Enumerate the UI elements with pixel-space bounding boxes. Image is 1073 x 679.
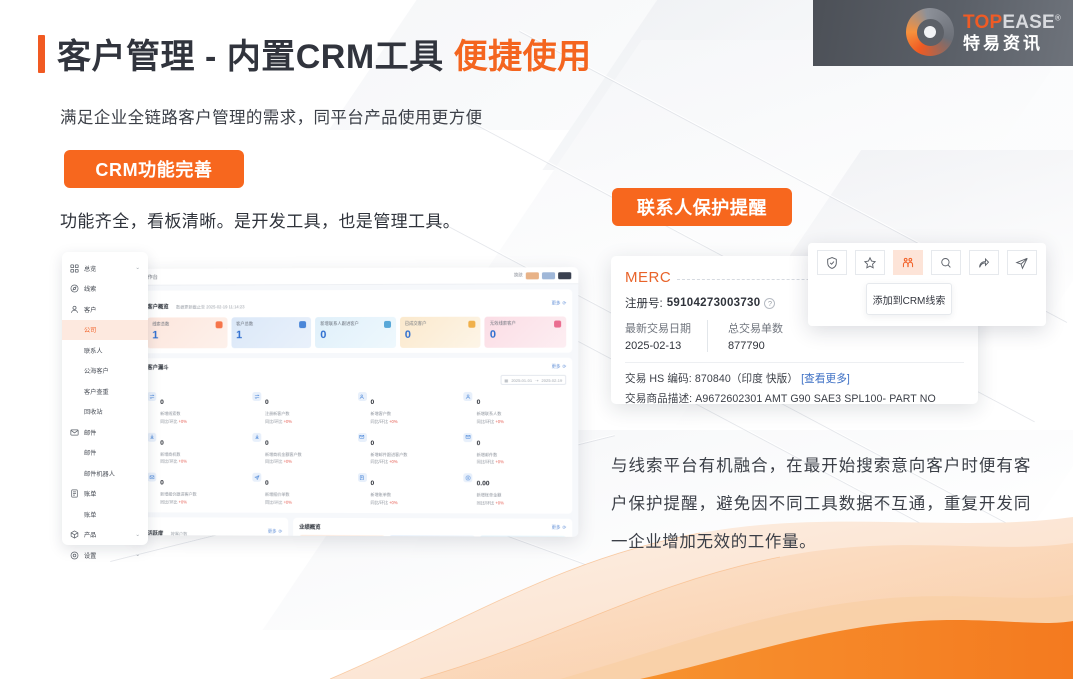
latest-trade-date: 最新交易日期 2025-02-13 (625, 320, 707, 352)
funnel-title: 客户漏斗 (147, 363, 168, 371)
people-icon-button[interactable] (893, 250, 923, 275)
theme-swatch-blue[interactable] (542, 272, 555, 279)
metric-grid: 0新增线索数同比/环比 +0% 0注册新客户数同比/环比 +0% 0新增客户数同… (147, 389, 566, 508)
stat-row: 线索总数 1 客户总数 1 新增联系人跟进客户 0 (147, 316, 566, 348)
more-label: 更多 (552, 300, 561, 306)
metric-label: 新增账单数 (371, 492, 398, 498)
metric-value: 0 (371, 480, 375, 487)
send-icon (252, 473, 261, 482)
help-icon[interactable]: ? (764, 298, 775, 309)
stat-badge-icon (299, 321, 306, 328)
metric-label: 新增联系人数 (477, 411, 504, 417)
hs-value: 870840（印度 快版） (695, 373, 798, 385)
money-icon (464, 473, 473, 482)
metric-value: 0 (265, 480, 269, 487)
refresh-icon[interactable]: ⟳ (279, 528, 283, 534)
performance-mini-card: 已成交客户数 0 (479, 535, 566, 537)
dashboard-sidebar: 总览 ⌄ 线索 客户 公司 联系人 公海客户 客户查重 回收站 邮件 (62, 252, 148, 545)
badge-crm-complete: CRM功能完善 (64, 150, 244, 188)
sidebar-item-customers[interactable]: 客户 (62, 299, 148, 320)
people-icon (901, 256, 915, 270)
total-orders-label: 总交易单数 (728, 320, 783, 336)
funnel-card: 客户漏斗 更多 ⟳ ▦ 2025-01-01 ⇢ 2025-02-19 0新 (141, 358, 572, 513)
metric-value: 0.00 (477, 480, 490, 487)
view-more-link[interactable]: [查看更多] (801, 373, 850, 385)
dashboard-panel: 工作台 换肤 客户概览 数据更新截止至 2025-02-19 11:14:23 (135, 267, 578, 537)
transfer-icon (252, 392, 261, 401)
metric-value: 0 (265, 439, 269, 446)
compass-icon (70, 284, 79, 293)
stat-badge-icon (554, 321, 561, 328)
sidebar-label: 公海客户 (84, 366, 109, 375)
metric-label: 新增商机数 (160, 451, 187, 457)
brand-logo[interactable]: TOPEASE® 特易资讯 (906, 8, 1061, 56)
total-orders-value: 877790 (728, 340, 783, 352)
performance-more-link[interactable]: 更多 ⟳ (552, 524, 567, 530)
date-separator: ⇢ (535, 377, 538, 382)
more-label: 更多 (268, 528, 277, 534)
theme-swatch-dark[interactable] (558, 272, 571, 279)
star-icon (863, 256, 877, 270)
page-title-highlight: 便捷使用 (454, 38, 592, 76)
stat-value: 0 (320, 330, 391, 341)
metric-compare: 同比/环比 +0% (160, 499, 196, 505)
sidebar-item-bills-sub[interactable]: 账单 (62, 504, 148, 525)
down-icon (147, 432, 156, 441)
date-to: 2025-02-19 (541, 377, 562, 382)
grid-icon (70, 264, 79, 273)
refresh-icon[interactable]: ⟳ (562, 300, 566, 306)
stat-card-invalid-leads: 无效线索客户 0 (485, 316, 566, 347)
metric-label: 新增邮件跟进客户数 (371, 452, 408, 458)
overview-subtitle: 数据更新截止至 2025-02-19 11:14:23 (176, 304, 244, 309)
logo-registered-mark: ® (1055, 13, 1061, 22)
transfer-icon (147, 392, 156, 401)
metric-item: 0新增邮件跟进客户数同比/环比 +0% (357, 430, 459, 468)
logo-ease-text: EASE (1002, 12, 1055, 33)
sidebar-item-mail-sub[interactable]: 邮件 (62, 443, 148, 464)
metric-label: 新增报价单数 (265, 492, 292, 498)
page-title: 客户管理 - 内置CRM工具 便捷使用 (38, 29, 592, 78)
metric-value: 0 (477, 399, 481, 406)
sidebar-item-contacts[interactable]: 联系人 (62, 340, 148, 361)
goods-desc-row: 交易商品描述: A9672602301 AMT G90 SAE3 SPL100-… (625, 391, 964, 406)
dashboard-topbar: 工作台 换肤 (135, 267, 578, 286)
desc-label: 交易商品描述: (625, 393, 692, 405)
overview-more-link[interactable]: 更多 ⟳ (552, 300, 567, 306)
shield-check-icon-button[interactable] (817, 250, 847, 275)
sidebar-label: 账单 (84, 510, 96, 519)
stat-card-leads: 线索总数 1 (147, 317, 227, 348)
metric-label: 新增报价跟进客户数 (160, 491, 196, 497)
doc-icon (357, 473, 366, 482)
title-accent-bar (38, 35, 45, 73)
metric-item: 0新增客户数同比/环比 +0% (357, 389, 459, 427)
overview-title: 客户概览 (147, 305, 168, 311)
sidebar-label: 回收站 (84, 407, 103, 416)
sidebar-label: 邮件 (84, 448, 96, 457)
sidebar-item-settings[interactable]: 设置 ⌄ (62, 545, 148, 566)
logo-wordmark: TOPEASE® (963, 13, 1061, 32)
metric-value: 0 (477, 440, 481, 447)
refresh-icon[interactable]: ⟳ (562, 524, 566, 530)
funnel-more-link[interactable]: 更多 ⟳ (552, 364, 567, 370)
metric-item: 0新增报价跟进客户数同比/环比 +0% (147, 470, 248, 508)
chevron-down-icon: ⌄ (135, 532, 140, 538)
sidebar-item-overview[interactable]: 总览 ⌄ (62, 258, 148, 279)
mail-icon (464, 433, 473, 442)
metric-compare: 同比/环比 +0% (477, 459, 504, 465)
sidebar-item-company[interactable]: 公司 (62, 320, 148, 341)
metric-compare: 同比/环比 +0% (477, 500, 504, 506)
metric-label: 新增账单金额 (477, 492, 504, 498)
sidebar-item-dedupe[interactable]: 客户查重 (62, 381, 148, 402)
metric-item: 0新增商机金额客户数同比/环比 +0% (252, 429, 353, 467)
stat-badge-icon (469, 321, 476, 328)
search-icon-button[interactable] (931, 250, 961, 275)
metric-value: 0 (160, 480, 164, 487)
down-icon (252, 432, 261, 441)
stat-label: 已成交客户 (405, 321, 476, 327)
sidebar-item-mail-robot[interactable]: 邮件机器人 (62, 463, 148, 484)
hs-label: 交易 HS 编码: (625, 373, 692, 385)
share-icon-button[interactable] (969, 250, 999, 275)
metric-compare: 同比/环比 +0% (160, 459, 187, 465)
metric-value: 0 (371, 399, 375, 406)
metric-item: 0.00新增账单金额同比/环比 +0% (464, 470, 567, 508)
sidebar-label: 客户查重 (84, 387, 109, 396)
mail-icon (70, 428, 79, 437)
date-range-picker[interactable]: ▦ 2025-01-01 ⇢ 2025-02-19 (500, 375, 566, 385)
shield-check-icon (825, 256, 839, 270)
star-icon-button[interactable] (855, 250, 885, 275)
theme-swatch-orange[interactable] (526, 272, 539, 279)
stat-value: 1 (152, 330, 222, 341)
metric-compare: 同比/环比 +0% (477, 419, 504, 425)
metric-value: 0 (371, 440, 375, 447)
metric-compare: 同比/环比 +0% (265, 499, 292, 505)
box-icon (70, 530, 79, 539)
metric-compare: 同比/环比 +0% (265, 418, 292, 424)
metric-item: 0新增报价单数同比/环比 +0% (252, 470, 353, 508)
sidebar-item-leads[interactable]: 线索 (62, 279, 148, 300)
metric-value: 0 (160, 439, 164, 446)
stat-badge-icon (384, 321, 391, 328)
stat-card-closed-customers: 已成交客户 0 (400, 317, 481, 348)
performance-card: 业绩概览 更多 ⟳ 累计成交额 $0 累计订单数 0 (293, 517, 572, 537)
date-from: 2025-01-01 (511, 377, 532, 382)
metric-label: 新增商机金额客户数 (265, 451, 302, 457)
activity-more-link[interactable]: 更多 ⟳ (268, 528, 282, 534)
metric-compare: 同比/环比 +0% (371, 459, 408, 465)
desc-value: A9672602301 AMT G90 SAE3 SPL100- PART NO (695, 393, 936, 405)
reg-label: 注册号: (625, 295, 663, 311)
more-label: 更多 (552, 364, 561, 370)
sidebar-label: 客户 (84, 305, 96, 314)
performance-title: 业绩概览 (299, 522, 321, 530)
logo-chinese-text: 特易资讯 (963, 35, 1061, 52)
metric-item: 0新增商机数同比/环比 +0% (147, 429, 248, 466)
stat-card-new-contact-followed: 新增联系人跟进客户 0 (315, 317, 396, 348)
mail-icon (147, 473, 156, 482)
gear-icon (70, 551, 79, 560)
metric-label: 新增邮件数 (477, 452, 504, 458)
overview-card: 客户概览 数据更新截止至 2025-02-19 11:14:23 更多 ⟳ 线索… (141, 289, 572, 353)
stat-badge-icon (215, 321, 222, 328)
chevron-down-icon: ⌄ (135, 552, 140, 558)
more-label: 更多 (552, 524, 561, 530)
action-toolbar-popup: 添加到CRM线索 (808, 243, 1046, 326)
metric-compare: 同比/环比 +0% (160, 418, 187, 424)
latest-date-value: 2025-02-13 (625, 340, 691, 352)
activity-title: 活跃度 (147, 531, 163, 537)
page-title-main: 客户管理 - 内置CRM工具 (57, 38, 454, 76)
stat-value: 0 (405, 330, 476, 341)
hs-code-row: 交易 HS 编码: 870840（印度 快版） [查看更多] (625, 371, 964, 386)
sidebar-item-mail[interactable]: 邮件 (62, 422, 148, 443)
stat-label: 无效线索客户 (490, 321, 561, 327)
mail-icon (357, 433, 366, 442)
sidebar-label: 设置 (84, 551, 96, 560)
sidebar-label: 产品 (84, 530, 96, 539)
send-icon-button[interactable] (1007, 250, 1037, 275)
calendar-icon: ▦ (505, 377, 509, 382)
sidebar-label: 总览 (84, 264, 96, 273)
topease-mark-icon (906, 8, 954, 56)
metric-item: 0新增邮件数同比/环比 +0% (464, 430, 567, 468)
lead-text: 功能齐全，看板清晰。是开发工具，也是管理工具。 (60, 207, 460, 232)
sidebar-item-products[interactable]: 产品 ⌄ (62, 525, 148, 546)
activity-subtitle: 按客户数 (171, 531, 188, 536)
user-icon (357, 392, 366, 401)
metric-compare: 同比/环比 +0% (371, 500, 398, 506)
metric-item: 0新增线索数同比/环比 +0% (147, 389, 248, 426)
sidebar-label: 账单 (84, 489, 96, 498)
sidebar-item-recycle-bin[interactable]: 回收站 (62, 402, 148, 423)
metric-label: 新增客户数 (371, 411, 398, 417)
sidebar-label: 线索 (84, 284, 96, 293)
reg-value: 59104273003730 (667, 297, 761, 309)
sidebar-label: 邮件 (84, 428, 96, 437)
send-icon (1015, 256, 1029, 270)
badge-contact-protection: 联系人保护提醒 (612, 188, 792, 226)
sidebar-label: 联系人 (84, 346, 103, 355)
page-subtitle: 满足企业全链路客户管理的需求，同平台产品使用更方便 (60, 104, 483, 128)
stat-card-customers: 客户总数 1 (231, 317, 311, 348)
metric-item: 0注册新客户数同比/环比 +0% (252, 389, 353, 426)
search-icon (939, 256, 953, 270)
tooltip-add-to-crm: 添加到CRM线索 (866, 283, 952, 315)
total-orders: 总交易单数 877790 (707, 320, 799, 352)
refresh-icon[interactable]: ⟳ (562, 364, 566, 370)
stat-label: 线索总数 (152, 321, 222, 327)
user-icon (464, 392, 473, 401)
stat-label: 新增联系人跟进客户 (320, 321, 391, 327)
logo-top-text: TOP (963, 12, 1002, 33)
metric-value: 0 (160, 399, 164, 406)
metric-label: 新增线索数 (160, 411, 187, 417)
metric-value: 0 (265, 399, 269, 406)
chevron-down-icon: ⌄ (135, 265, 140, 271)
sidebar-item-bills[interactable]: 账单 (62, 484, 148, 505)
user-icon (70, 305, 79, 314)
performance-mini-card: 累计成交额 $0 (299, 534, 385, 537)
theme-label: 换肤 (514, 272, 523, 278)
doc-icon (70, 489, 79, 498)
activity-card: 活跃度 按客户数 更多 ⟳ 7天内未跟进数0 0% (141, 517, 288, 537)
share-icon (977, 256, 991, 270)
metric-label: 注册新客户数 (265, 411, 292, 417)
stat-label: 客户总数 (236, 321, 306, 327)
metric-compare: 同比/环比 +0% (265, 459, 302, 465)
sidebar-label: 邮件机器人 (84, 469, 115, 478)
crm-dashboard-screenshot: 总览 ⌄ 线索 客户 公司 联系人 公海客户 客户查重 回收站 邮件 (62, 252, 577, 552)
sidebar-item-public-sea[interactable]: 公海客户 (62, 361, 148, 382)
metric-item: 0新增联系人数同比/环比 +0% (464, 389, 567, 427)
performance-mini-card: 累计订单数 0 (389, 535, 475, 537)
latest-date-label: 最新交易日期 (625, 320, 691, 336)
feature-paragraph: 与线索平台有机融合，在最开始搜索意向客户时便有客户保护提醒，避免因不同工具数据不… (611, 447, 1031, 561)
stat-value: 0 (490, 330, 561, 341)
sidebar-label: 公司 (84, 325, 96, 334)
metric-compare: 同比/环比 +0% (371, 419, 398, 425)
stat-value: 1 (236, 330, 306, 341)
metric-item: 0新增账单数同比/环比 +0% (357, 470, 459, 508)
